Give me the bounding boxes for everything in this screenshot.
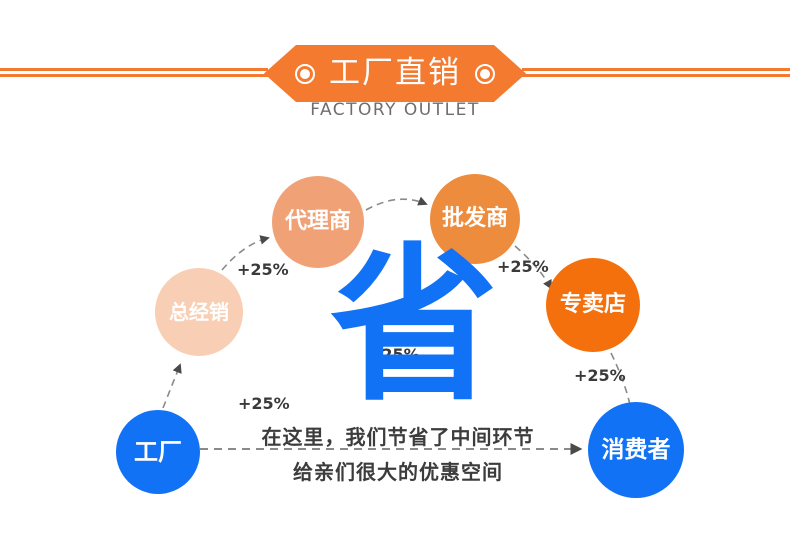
edge-dailishang-to-pifashang [366,199,426,210]
node-zhuanmaidian-label: 专卖店 [560,294,626,316]
distribution-chain-diagram: 总经销 代理商 批发商 专卖店 工厂 消费者 +25% +25% +25% +2… [0,140,790,549]
edge-label-zhuanmaidian-xiaofeizhe: +25% [574,366,626,385]
edge-gongchang-to-zongjingxiao [163,365,180,408]
circle-dot-icon-left [295,64,315,84]
node-xiaofeizhe-label: 消费者 [602,439,671,462]
banner-rule-left-line-bottom [0,74,268,77]
caption-line-2: 给亲们很大的优惠空间 [238,456,558,485]
banner-plate: 工厂直销 [264,45,526,102]
edge-label-zongjingxiao-dailishang: +25% [237,260,289,279]
banner-rule-left [0,68,268,78]
edge-label-gongchang-zongjingxiao: +25% [238,394,290,413]
banner-title: 工厂直销 [329,58,461,89]
caption-line-1: 在这里，我们节省了中间环节 [238,421,558,450]
banner-subtitle: FACTORY OUTLET [0,100,790,120]
node-gongchang-label: 工厂 [134,440,182,464]
banner-rule-left-line-top [0,68,268,71]
banner-rule-right-line-bottom [522,74,790,77]
center-savings-glyph: 省 [330,251,470,411]
node-zongjingxiao[interactable]: 总经销 [155,268,243,356]
node-pifashang-label: 批发商 [442,208,508,230]
node-gongchang[interactable]: 工厂 [116,410,200,494]
node-zhuanmaidian[interactable]: 专卖店 [546,258,640,352]
node-zongjingxiao-label: 总经销 [169,302,229,322]
factory-outlet-banner: 工厂直销 FACTORY OUTLET [0,0,790,140]
node-xiaofeizhe[interactable]: 消费者 [588,402,684,498]
edge-label-pifashang-zhuanmaidian: +25% [497,257,549,276]
circle-dot-icon-right [475,64,495,84]
banner-rule-right-line-top [522,68,790,71]
banner-rule-right [522,68,790,78]
